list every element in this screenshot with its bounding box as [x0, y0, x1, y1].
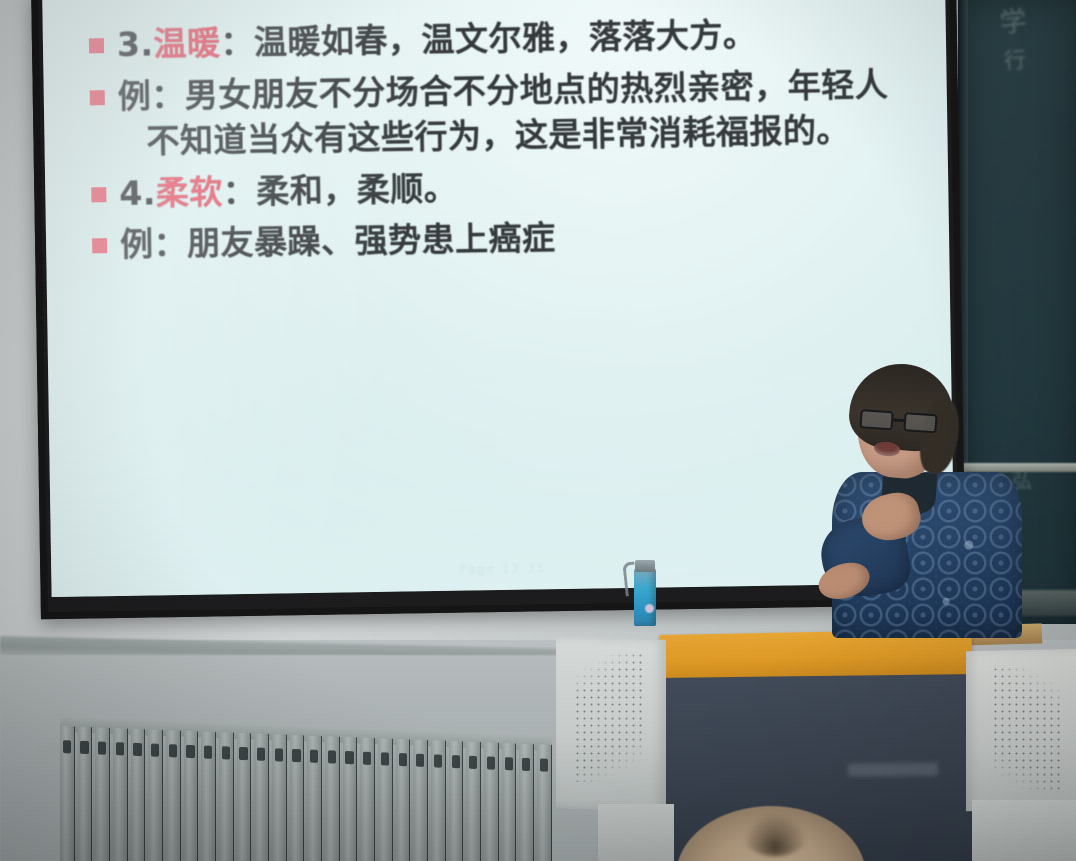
slide-line: 4.柔软：柔和，柔顺。 [91, 158, 931, 217]
bullet-square-icon [90, 90, 105, 105]
radiator-end-cap [38, 743, 62, 768]
slide-line-text: 3.温暖：温暖如春，温文尔雅，落落大方。 [117, 12, 757, 68]
bullet-square-icon [92, 238, 107, 253]
bottle-label-icon [645, 604, 654, 613]
slide-line-number: 4. [119, 173, 156, 213]
lecture-hall-photo: 学 行 弘 3.温暖：温暖如春，温文尔雅，落落大方。 例：男女朋友不分场合不分地… [0, 0, 1076, 861]
chalk-mark: 行 [1003, 49, 1029, 75]
lectern-right-base [972, 800, 1076, 861]
slide-text-block: 3.温暖：温暖如春，温文尔雅，落落大方。 例：男女朋友不分场合不分地点的热烈亲密… [89, 9, 932, 274]
slide-line-rest: 例：男女朋友不分场合不分地点的热烈亲密，年轻人 [117, 64, 888, 115]
speaker-grille-icon [574, 652, 642, 782]
audience-head-shadow [742, 812, 808, 856]
lectern-front-label [848, 763, 938, 777]
slide-line-rest: ：温暖如春，温文尔雅，落落大方。 [220, 15, 757, 62]
radiator [60, 716, 552, 861]
slide-line-text: 例：朋友暴躁、强势患上癌症 [120, 215, 556, 267]
slide-line: 例：男女朋友不分场合不分地点的热烈亲密，年轻人 不知道当众有这些行为，这是非常消… [89, 61, 929, 165]
slide-line: 例：朋友暴躁、强势患上癌症 [92, 209, 932, 268]
slide-line-text: 4.柔软：柔和，柔顺。 [119, 165, 458, 216]
slide-line-continuation: 不知道当众有这些行为，这是非常消耗福报的。 [118, 111, 850, 161]
slide-line: 3.温暖：温暖如春，温文尔雅，落落大方。 [89, 9, 929, 68]
chalk-mark: 学 [998, 6, 1030, 39]
slide-line-rest: ：柔和，柔顺。 [222, 168, 457, 211]
bullet-square-icon [91, 187, 106, 202]
slide-line-text: 例：男女朋友不分场合不分地点的热烈亲密，年轻人 不知道当众有这些行为，这是非常消… [117, 61, 889, 164]
bullet-square-icon [89, 38, 104, 53]
slide-line-highlight: 温暖 [153, 23, 221, 63]
slide-surface: 3.温暖：温暖如春，温文尔雅，落落大方。 例：男女朋友不分场合不分地点的热烈亲密… [42, 0, 954, 597]
radiator-fins [60, 726, 552, 861]
speaker-grille-icon [992, 666, 1064, 794]
bottle-cap [635, 560, 655, 572]
speaker [826, 368, 1026, 636]
slide-line-highlight: 柔软 [155, 172, 223, 212]
screen-glare-lower [47, 296, 954, 597]
slide-line-number: 3. [117, 24, 154, 64]
lectern-left-base [598, 804, 674, 861]
